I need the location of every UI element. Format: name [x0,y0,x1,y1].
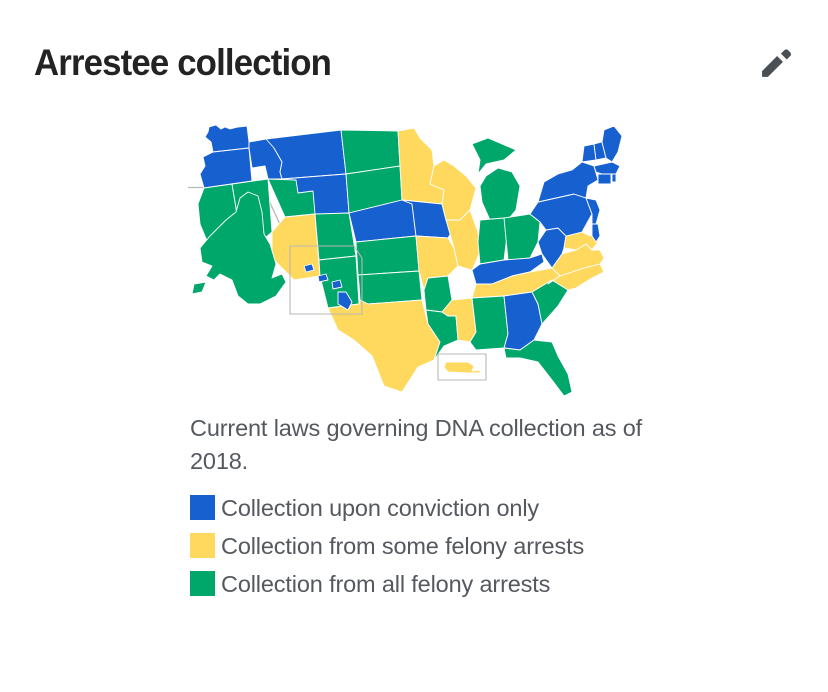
state-MA [594,162,620,174]
state-KS [356,236,419,275]
state-CO [315,213,356,260]
page-title: Arrestee collection [34,44,331,83]
state-CT [598,174,611,184]
map-caption-and-legend: Current laws governing DNA collection as… [190,412,668,603]
state-MI [472,138,520,222]
legend-item-all-felony-arrests: Collection from all felony arrests [190,571,550,597]
legend-swatch-some-felony-arrests [190,533,215,558]
state-WA [205,125,249,152]
map-caption: Current laws governing DNA collection as… [190,412,668,478]
legend-swatch-all-felony-arrests [190,571,215,596]
legend-label-conviction-only: Collection upon conviction only [221,495,539,521]
state-IN [478,218,508,264]
edit-button[interactable] [754,41,798,85]
map-legend: Collection upon conviction only Collecti… [190,489,668,603]
legend-label-all-felony-arrests: Collection from all felony arrests [221,571,550,597]
state-PR [444,362,480,373]
legend-swatch-conviction-only [190,495,215,520]
card-header: Arrestee collection [34,34,794,92]
map-svg [186,124,626,396]
legend-item-some-felony-arrests: Collection from some felony arrests [190,533,584,559]
state-OH [504,214,540,260]
legend-label-some-felony-arrests: Collection from some felony arrests [221,533,584,559]
arrestee-collection-card: Arrestee collection [0,0,828,692]
state-AL [470,296,508,350]
state-OK [358,271,422,304]
pencil-icon [757,44,795,82]
us-choropleth-map [186,124,626,396]
state-RI [612,174,616,182]
legend-item-conviction-only: Collection upon conviction only [190,495,539,521]
